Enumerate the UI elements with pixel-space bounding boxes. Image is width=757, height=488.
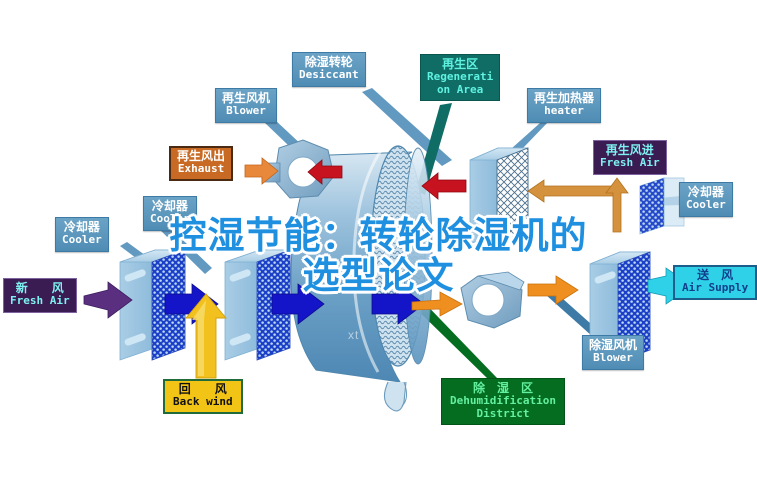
- label-regeneration-blower: 再生风机 Blower: [215, 88, 277, 123]
- label-desiccant-rotor-cn: 除湿转轮: [299, 56, 359, 69]
- label-back-wind-en: Back wind: [173, 396, 233, 408]
- label-exhaust-en: Exhaust: [177, 163, 225, 175]
- label-air-supply: 送 风 Air Supply: [673, 265, 757, 300]
- cooler-coil-4: [640, 178, 684, 234]
- label-regeneration-heater-en: heater: [534, 105, 594, 117]
- dehumidifier-diagram: xt 除湿转轮 Desiccant 再生风机 Blower 再生区 Regene…: [0, 0, 757, 488]
- label-dehumidification-blower-en: Blower: [589, 352, 637, 364]
- label-regeneration-blower-en: Blower: [222, 105, 270, 117]
- label-dehumidification-district-en-line2: District: [450, 408, 556, 420]
- label-cooler-left: 冷却器 Cooler: [55, 217, 109, 252]
- label-dehumidification-district-en-line1: Dehumidification: [450, 395, 556, 407]
- label-exhaust-cn: 再生风出: [177, 150, 225, 163]
- label-cooler-right-en: Cooler: [686, 199, 726, 211]
- label-fresh-air-in-en: Fresh Air: [10, 295, 70, 307]
- label-regeneration-area-cn: 再生区: [427, 58, 493, 71]
- dehumidification-blower-unit: [461, 272, 524, 328]
- label-regeneration-fresh-air-in: 再生风进 Fresh Air: [593, 140, 667, 175]
- watermark-text: xt: [348, 328, 359, 342]
- label-regeneration-blower-cn: 再生风机: [222, 92, 270, 105]
- label-fresh-air-in-cn: 新 风: [10, 282, 70, 295]
- label-cooler-upper-left: 冷却器 Cooler: [143, 196, 197, 231]
- label-desiccant-rotor: 除湿转轮 Desiccant: [292, 52, 366, 87]
- regen-fresh-air-arrow: [528, 180, 620, 202]
- label-back-wind: 回 风 Back wind: [163, 379, 243, 414]
- label-dehumidification-district-cn: 除 湿 区: [450, 382, 556, 395]
- label-fresh-air-in: 新 风 Fresh Air: [3, 278, 77, 313]
- label-dehumidification-blower-cn: 除湿风机: [589, 339, 637, 352]
- label-cooler-left-en: Cooler: [62, 234, 102, 246]
- label-regeneration-area: 再生区 Regenerati on Area: [420, 54, 500, 101]
- label-cooler-right: 冷却器 Cooler: [679, 182, 733, 217]
- label-air-supply-cn: 送 风: [682, 269, 748, 282]
- regeneration-heater-coil: [470, 148, 528, 244]
- label-regeneration-fresh-air-in-cn: 再生风进: [600, 144, 660, 157]
- label-exhaust: 再生风出 Exhaust: [169, 146, 233, 181]
- label-cooler-upper-left-en: Cooler: [150, 213, 190, 225]
- label-dehumidification-blower: 除湿风机 Blower: [582, 335, 644, 370]
- label-cooler-upper-left-cn: 冷却器: [150, 200, 190, 213]
- label-cooler-right-cn: 冷却器: [686, 186, 726, 199]
- label-dehumidification-district: 除 湿 区 Dehumidification District: [441, 378, 565, 425]
- label-regeneration-fresh-air-in-en: Fresh Air: [600, 157, 660, 169]
- label-desiccant-rotor-en: Desiccant: [299, 69, 359, 81]
- label-cooler-left-cn: 冷却器: [62, 221, 102, 234]
- diagram-graphics: [0, 0, 757, 488]
- label-regeneration-heater-cn: 再生加热器: [534, 92, 594, 105]
- label-regeneration-area-en-line2: on Area: [427, 84, 493, 96]
- label-regeneration-heater: 再生加热器 heater: [527, 88, 601, 123]
- label-air-supply-en: Air Supply: [682, 282, 748, 294]
- label-back-wind-cn: 回 风: [173, 383, 233, 396]
- label-regeneration-area-en-line1: Regenerati: [427, 71, 493, 83]
